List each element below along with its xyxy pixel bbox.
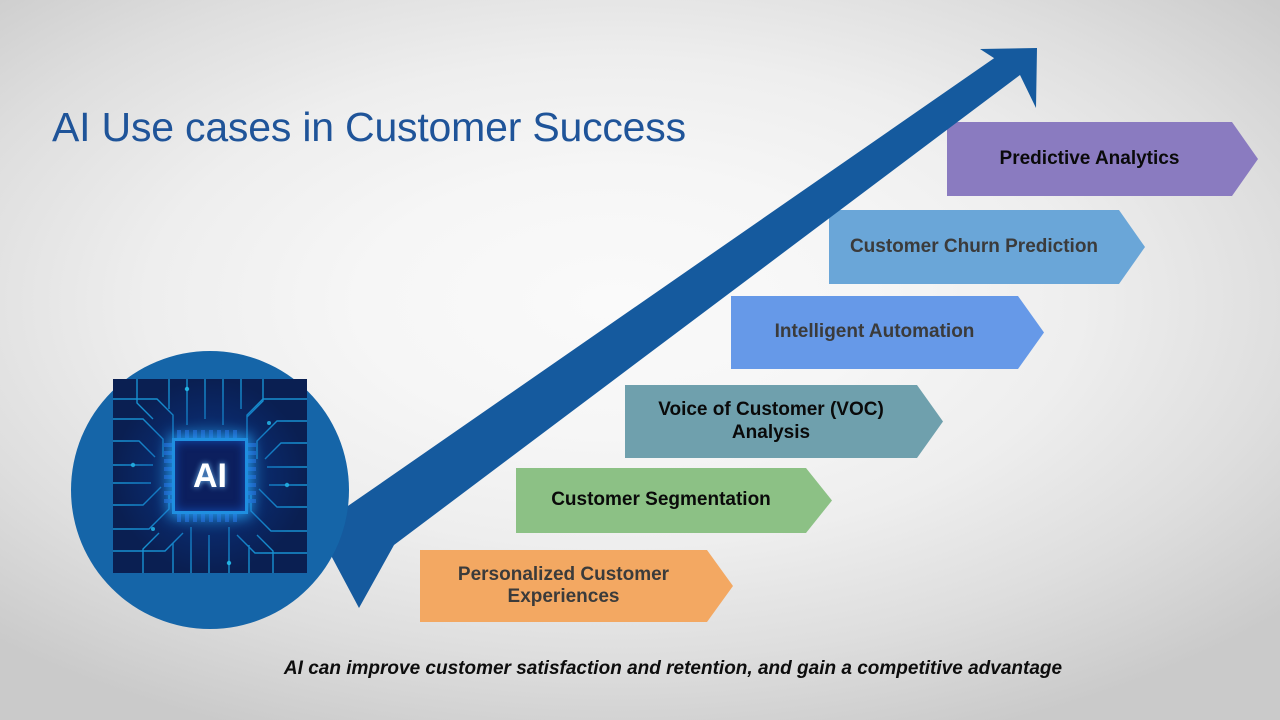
slide-canvas: Predictive AnalyticsCustomer Churn Predi…	[0, 0, 1280, 720]
chip-body: AI	[172, 438, 248, 514]
use-case-banner[interactable]: Intelligent Automation	[731, 296, 1044, 369]
banner-label: Voice of Customer (VOC) Analysis	[625, 399, 943, 444]
use-case-banner[interactable]: Voice of Customer (VOC) Analysis	[625, 385, 943, 458]
banner-label: Predictive Analytics	[947, 148, 1258, 170]
cpu-chip-icon: AI	[164, 430, 256, 522]
chip-label: AI	[193, 459, 227, 493]
caption-text: AI can improve customer satisfaction and…	[0, 658, 1280, 680]
use-case-banner[interactable]: Customer Churn Prediction	[829, 210, 1145, 284]
page-title: AI Use cases in Customer Success	[52, 104, 686, 151]
use-case-banner[interactable]: Predictive Analytics	[947, 122, 1258, 196]
banner-label: Personalized Customer Experiences	[420, 564, 733, 609]
banner-label: Intelligent Automation	[731, 321, 1044, 343]
ai-chip-image: AI	[113, 379, 307, 573]
banner-label: Customer Churn Prediction	[829, 236, 1145, 258]
banner-label: Customer Segmentation	[516, 489, 832, 511]
ai-logo-circle: AI	[71, 351, 349, 629]
use-case-banner[interactable]: Customer Segmentation	[516, 468, 832, 533]
use-case-banner[interactable]: Personalized Customer Experiences	[420, 550, 733, 622]
